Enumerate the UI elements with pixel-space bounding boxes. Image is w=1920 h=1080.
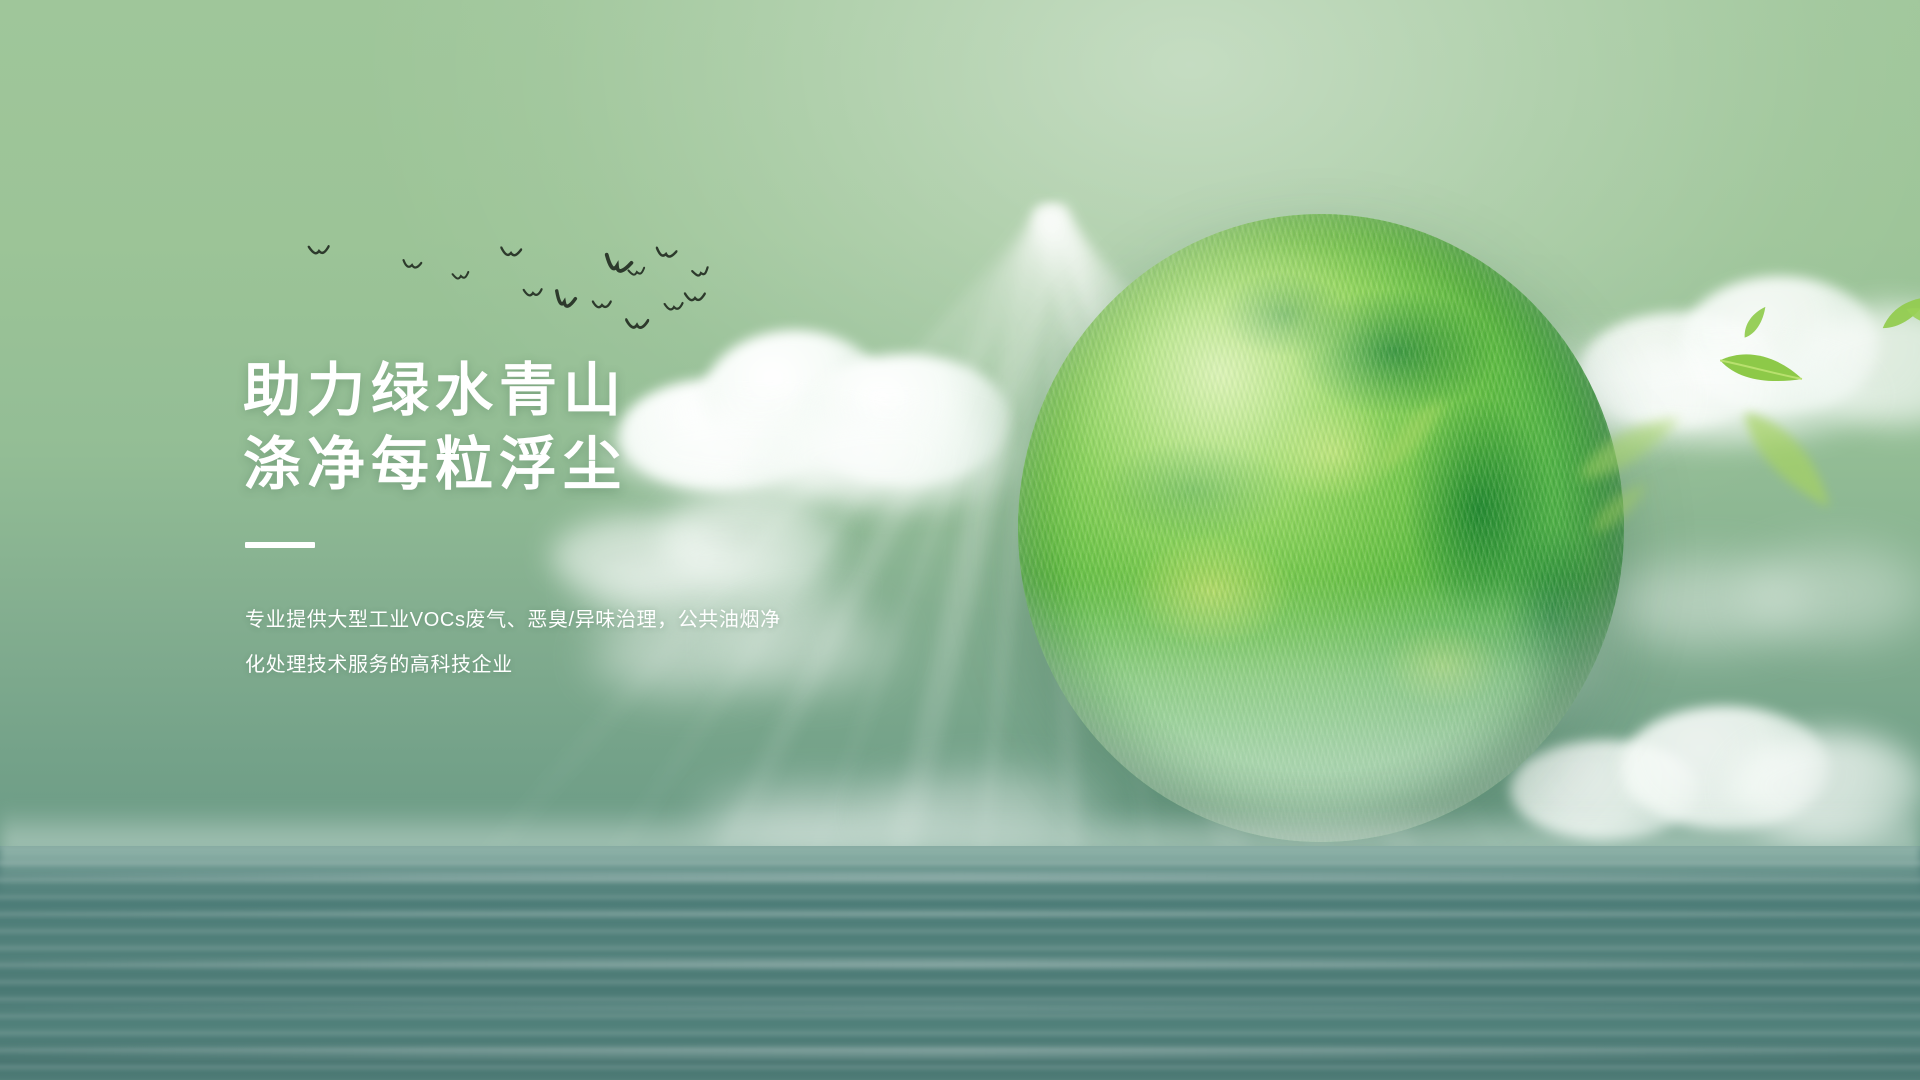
- globe-rim-light: [1018, 214, 1624, 842]
- water-band: [0, 958, 1920, 969]
- title-divider: [245, 542, 315, 548]
- grass-earth-globe: [1018, 214, 1624, 842]
- bird-icon: [684, 292, 706, 305]
- hero-subtitle: 专业提供大型工业VOCs废气、恶臭/异味治理，公共油烟净 化处理技术服务的高科技…: [245, 598, 1003, 688]
- hero-copy: 助力绿水青山 涤净每粒浮尘 专业提供大型工业VOCs废气、恶臭/异味治理，公共油…: [243, 354, 1003, 688]
- bird-icon: [308, 244, 331, 258]
- bird-icon: [592, 299, 613, 311]
- headline-line-1: 助力绿水青山: [243, 354, 1003, 428]
- subtitle-line-2: 化处理技术服务的高科技企业: [245, 643, 1003, 688]
- water-band: [0, 1004, 1920, 1012]
- water-band: [0, 872, 1920, 881]
- bird-icon: [500, 246, 523, 259]
- hero-banner: 助力绿水青山 涤净每粒浮尘 专业提供大型工业VOCs废气、恶臭/异味治理，公共油…: [0, 0, 1920, 1080]
- water-surface: [0, 846, 1920, 1080]
- water-band: [0, 1046, 1920, 1059]
- bird-icon: [625, 318, 649, 332]
- headline-line-2: 涤净每粒浮尘: [243, 428, 1003, 502]
- water-band: [0, 910, 1920, 917]
- bird-icon: [523, 287, 544, 300]
- bird-icon: [663, 301, 684, 314]
- bird-icon: [401, 259, 422, 272]
- subtitle-line-1: 专业提供大型工业VOCs废气、恶臭/异味治理，公共油烟净: [245, 598, 1003, 643]
